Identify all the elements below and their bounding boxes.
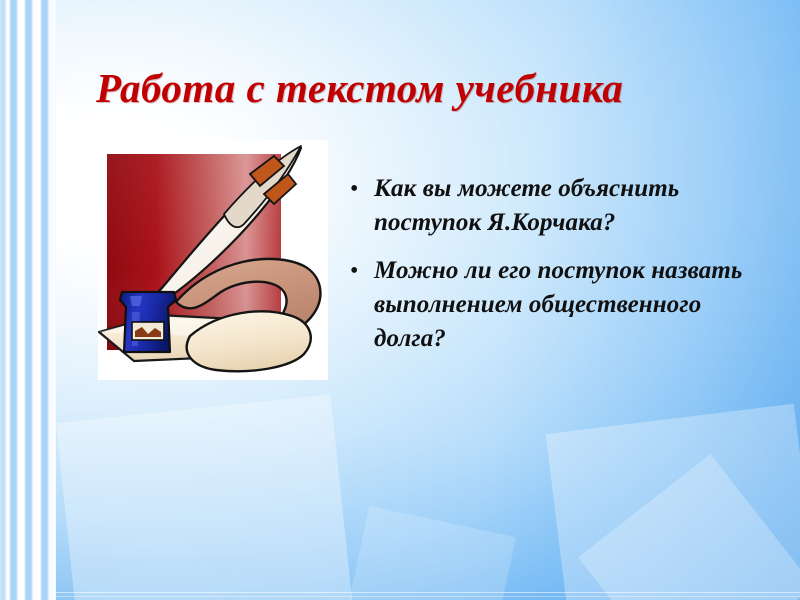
bullet-marker-icon: • bbox=[348, 172, 374, 206]
list-item: • Можно ли его поступок назвать выполнен… bbox=[348, 254, 768, 356]
decorative-square-1 bbox=[56, 394, 360, 600]
bullet-text: Как вы можете объяснить поступок Я.Корча… bbox=[374, 172, 768, 240]
bottom-hairline-1 bbox=[0, 592, 800, 593]
slide: Работа с текстом учебника bbox=[0, 0, 800, 600]
list-item: • Как вы можете объяснить поступок Я.Кор… bbox=[348, 172, 768, 240]
left-stripe-band bbox=[0, 0, 56, 600]
bullet-marker-icon: • bbox=[348, 254, 374, 288]
bullet-text: Можно ли его поступок назвать выполнение… bbox=[374, 254, 768, 356]
bullet-list: • Как вы можете объяснить поступок Я.Кор… bbox=[348, 172, 768, 370]
illustration-quill-inkwell bbox=[98, 140, 328, 380]
bottom-hairline-2 bbox=[0, 596, 800, 597]
page-title: Работа с текстом учебника bbox=[96, 64, 756, 112]
quill-pen-inkwell-parchment-icon bbox=[98, 140, 328, 380]
